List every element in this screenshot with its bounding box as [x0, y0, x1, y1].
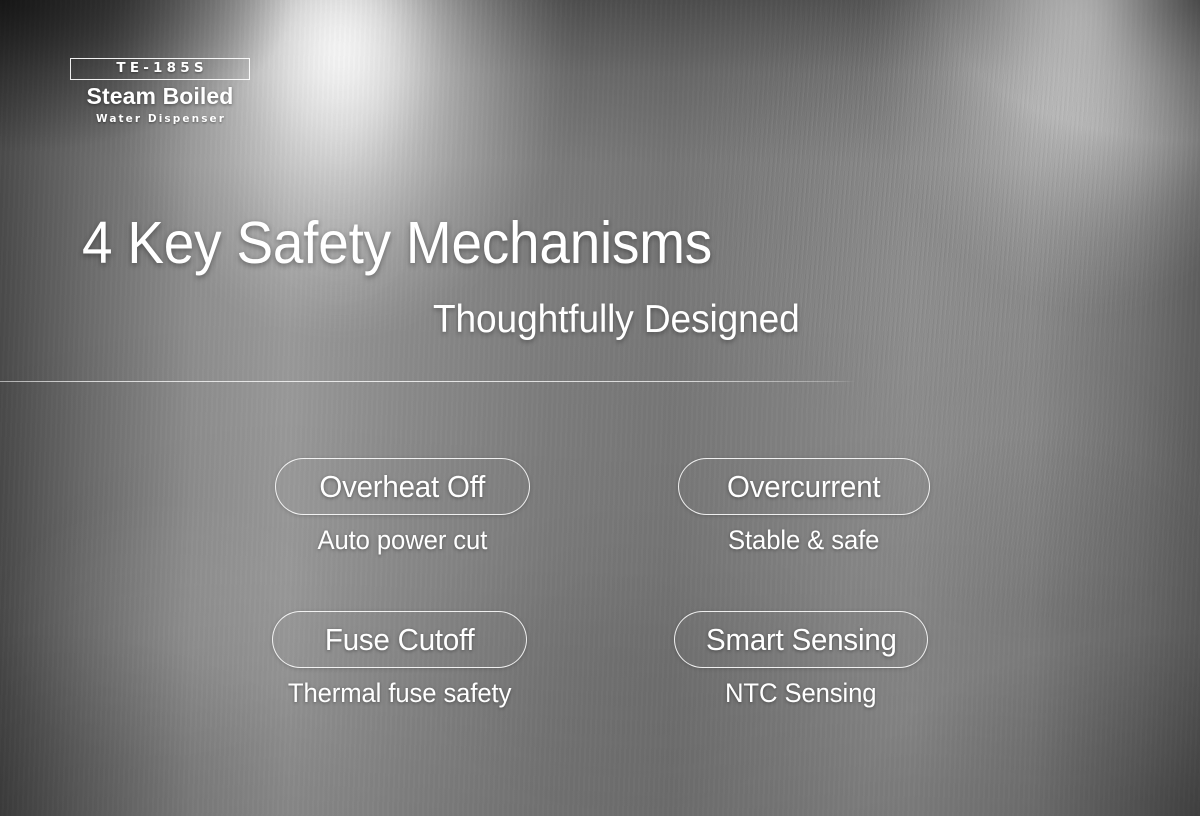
- feature-label: Overcurrent: [727, 469, 880, 505]
- feature-caption-fuse-cutoff: Thermal fuse safety: [272, 678, 527, 709]
- brand-logo: TE-185S Steam Boiled Water Dispenser: [70, 58, 250, 125]
- feature-pill-fuse-cutoff[interactable]: Fuse Cutoff: [272, 611, 527, 668]
- feature-item-fuse-cutoff: Fuse Cutoff Thermal fuse safety: [272, 611, 527, 709]
- page-subtitle: Thoughtfully Designed: [433, 299, 800, 341]
- feature-label: Overheat Off: [320, 469, 486, 505]
- model-badge: TE-185S: [70, 58, 250, 80]
- product-category: Water Dispenser: [70, 113, 250, 125]
- feature-item-smart-sensing: Smart Sensing NTC Sensing: [674, 611, 928, 709]
- feature-pill-smart-sensing[interactable]: Smart Sensing: [674, 611, 928, 668]
- feature-caption-overheat-off: Auto power cut: [275, 525, 530, 556]
- feature-caption-overcurrent: Stable & safe: [678, 525, 930, 556]
- section-divider: [0, 381, 856, 382]
- feature-pill-overcurrent[interactable]: Overcurrent: [678, 458, 930, 515]
- feature-pill-overheat-off[interactable]: Overheat Off: [275, 458, 530, 515]
- feature-item-overcurrent: Overcurrent Stable & safe: [678, 458, 930, 556]
- page-title: 4 Key Safety Mechanisms: [82, 213, 712, 275]
- product-name: Steam Boiled: [70, 84, 250, 110]
- feature-label: Smart Sensing: [706, 622, 897, 658]
- feature-label: Fuse Cutoff: [325, 622, 475, 658]
- marketing-slide: TE-185S Steam Boiled Water Dispenser 4 K…: [0, 0, 1200, 816]
- feature-caption-smart-sensing: NTC Sensing: [674, 678, 928, 709]
- feature-item-overheat-off: Overheat Off Auto power cut: [275, 458, 530, 556]
